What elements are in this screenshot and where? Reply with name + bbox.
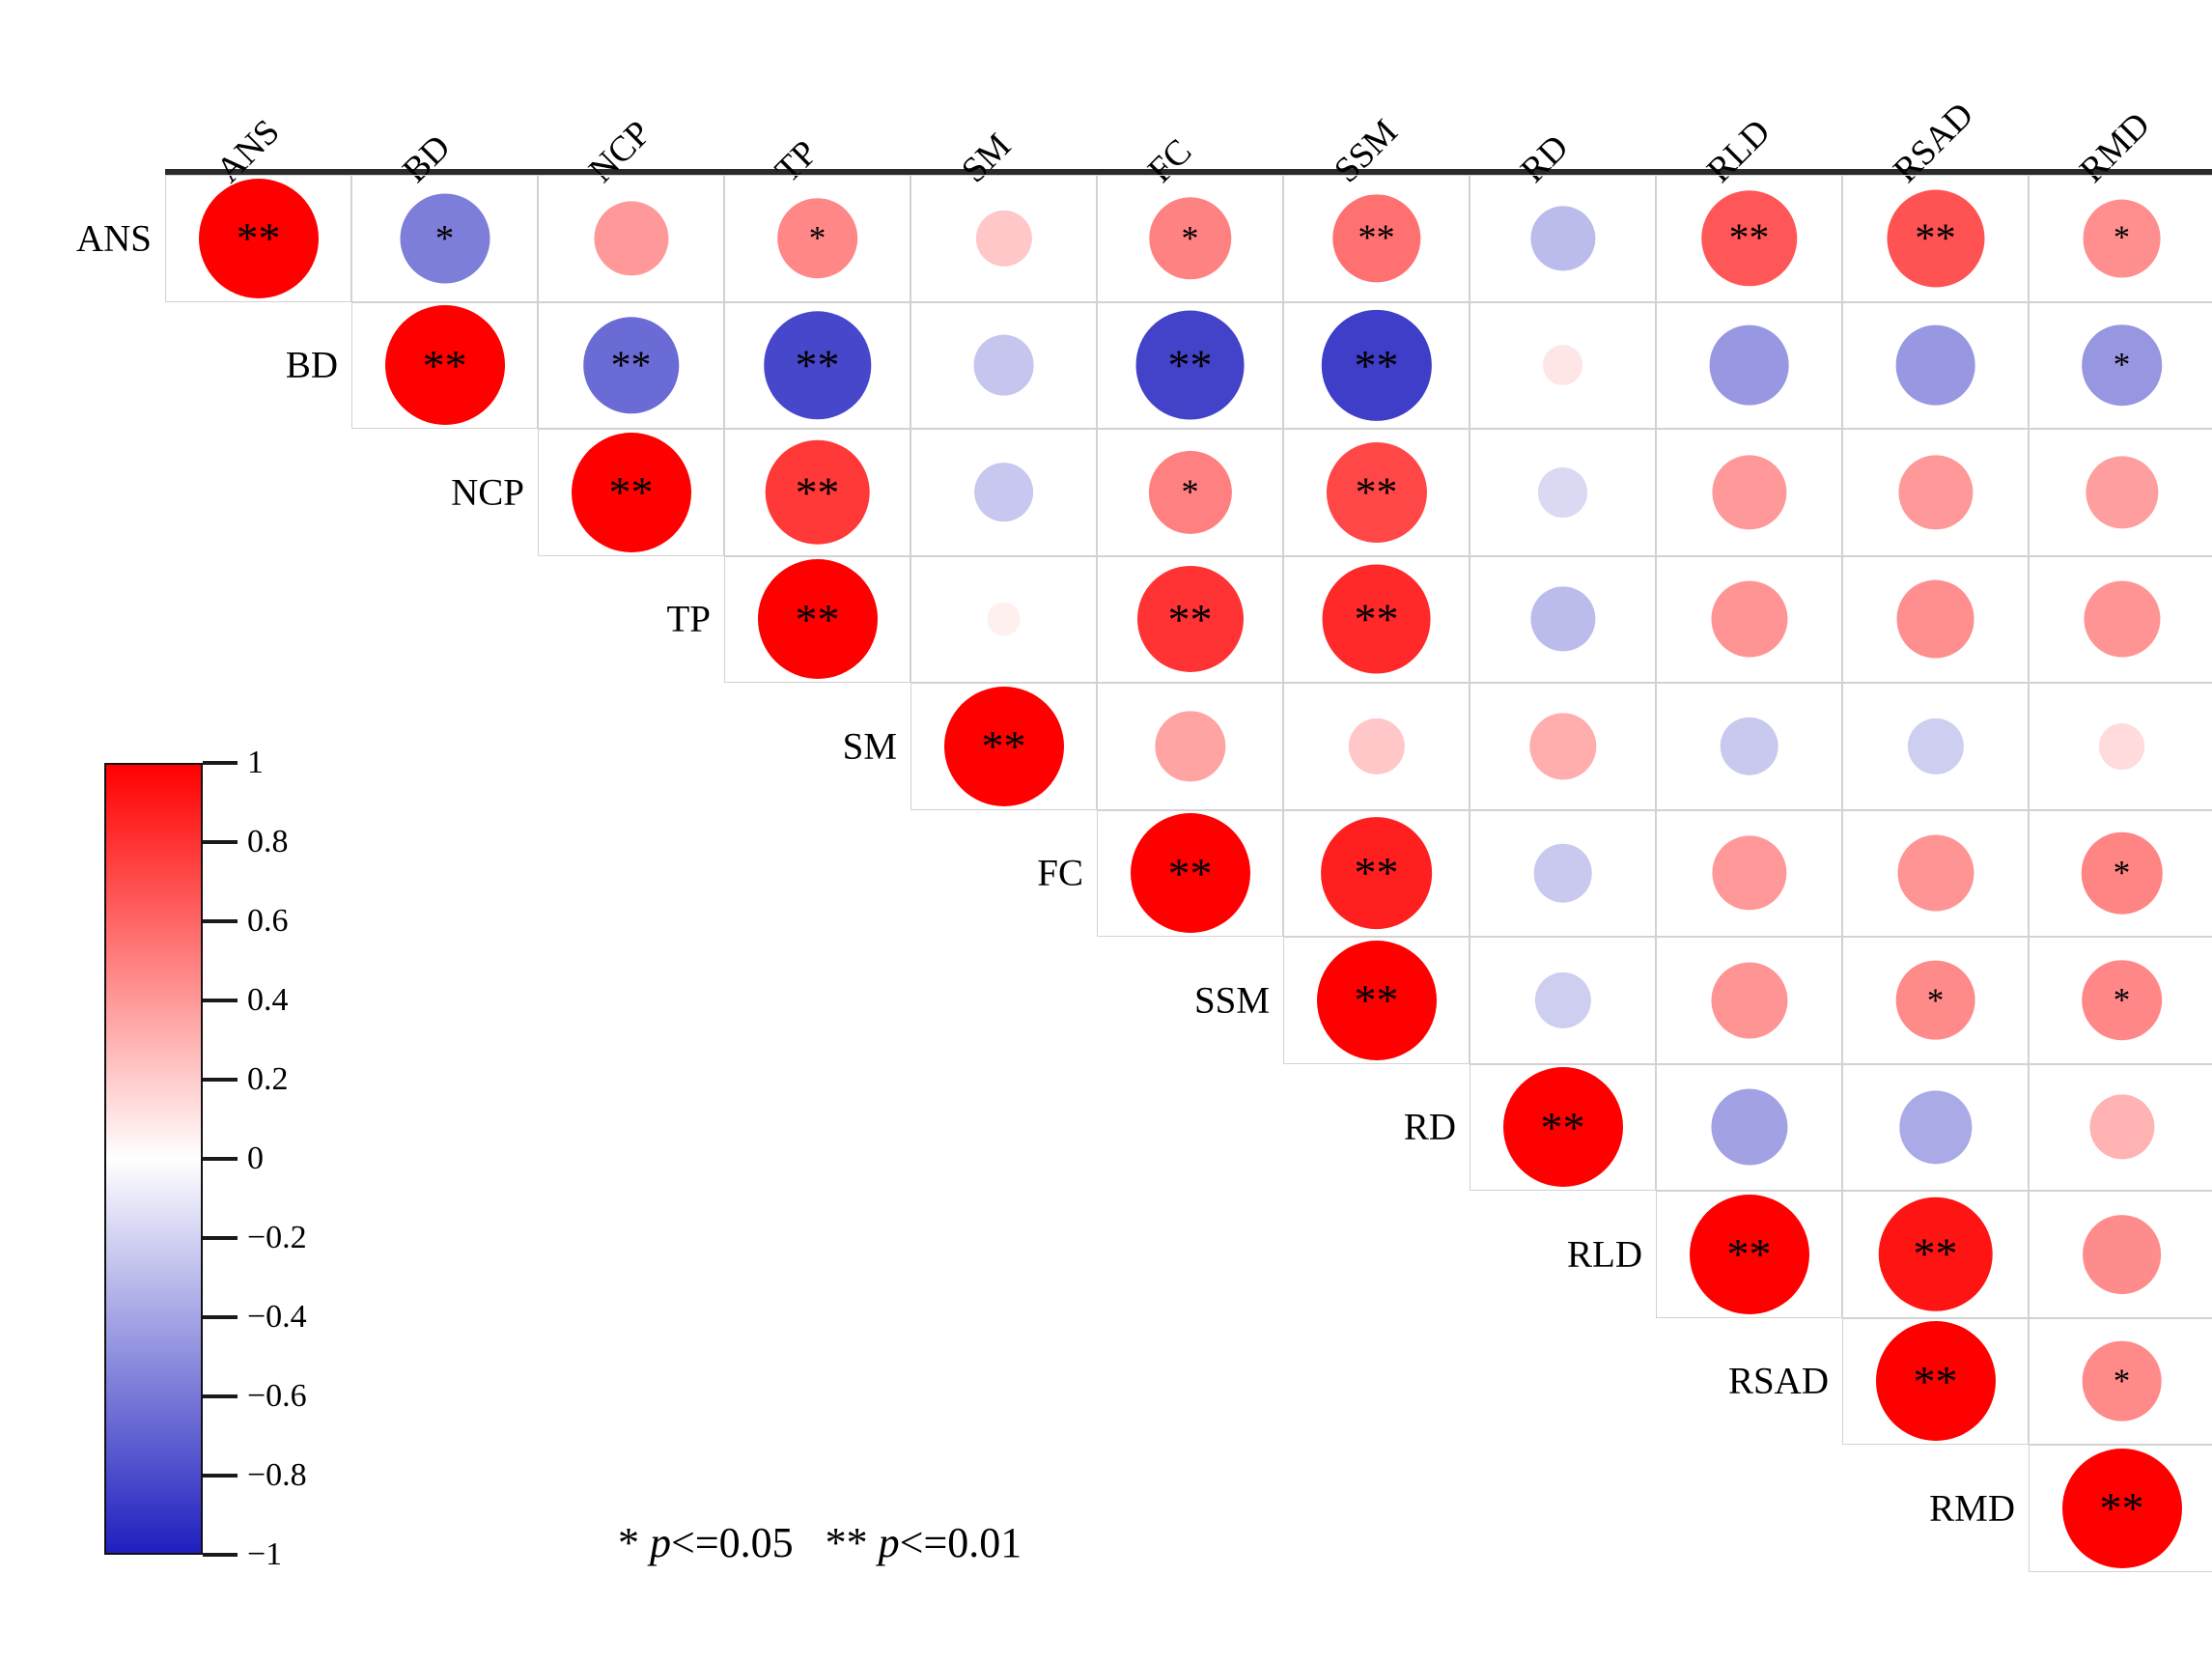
correlation-matrix-plot: ANSBDNCPTPSMFCSSMRDRLDRSADRMDANSBDNCPTPS… [0, 0, 2212, 1661]
significance-legend-star-symbol: * [618, 1519, 650, 1566]
significance-marker: ** [795, 353, 839, 378]
significance-legend-dstar: ** p<=0.01 [826, 1519, 1022, 1566]
legend-spacer [794, 1519, 826, 1566]
correlation-circle[interactable]: ** [385, 305, 505, 425]
correlation-circle[interactable]: ** [1135, 311, 1245, 420]
correlation-circle[interactable] [2086, 456, 2158, 528]
significance-marker: * [1927, 991, 1944, 1009]
correlation-circle[interactable]: ** [1321, 817, 1433, 929]
correlation-circle[interactable] [975, 211, 1031, 267]
colorbar-tick-label: −0.2 [247, 1220, 307, 1256]
significance-marker: ** [796, 480, 840, 504]
correlation-circle[interactable]: ** [1878, 1196, 1993, 1311]
significance-marker: ** [1354, 607, 1398, 632]
correlation-circle[interactable] [1897, 835, 1974, 912]
significance-marker: ** [1913, 1242, 1957, 1266]
correlation-circle[interactable] [2099, 723, 2145, 770]
correlation-circle[interactable] [1529, 713, 1596, 779]
correlation-circle[interactable]: * [2082, 1341, 2162, 1422]
correlation-circle[interactable] [2084, 581, 2160, 658]
significance-legend-dstar-p: p [879, 1519, 900, 1566]
correlation-circle[interactable] [1907, 718, 1963, 774]
correlation-circle[interactable] [1709, 325, 1789, 406]
significance-legend-dstar-threshold: <=0.01 [900, 1519, 1022, 1566]
row-label-tp: TP [521, 598, 711, 641]
significance-marker: ** [1355, 353, 1399, 378]
significance-legend-star-p: p [650, 1519, 671, 1566]
correlation-circle[interactable]: ** [1887, 189, 1984, 287]
significance-legend: * p<=0.05 ** p<=0.01 [618, 1518, 1022, 1567]
row-label-ans: ANS [0, 216, 152, 260]
colorbar-tick [203, 919, 238, 923]
colorbar-tick [203, 1394, 238, 1398]
significance-marker: * [2114, 863, 2131, 883]
correlation-circle[interactable]: * [2081, 832, 2163, 915]
correlation-circle[interactable]: ** [1131, 813, 1250, 933]
colorbar-tick-label: −0.6 [247, 1378, 307, 1415]
correlation-circle[interactable] [2089, 1095, 2154, 1160]
colorbar-tick [203, 1157, 238, 1161]
row-label-ncp: NCP [335, 470, 524, 514]
significance-marker: ** [1168, 861, 1213, 886]
colorbar-gradient [106, 765, 201, 1553]
significance-marker: ** [1541, 1115, 1585, 1140]
colorbar-tick-label: 0.6 [247, 903, 289, 940]
correlation-circle[interactable]: * [2083, 199, 2161, 277]
correlation-circle[interactable]: * [2082, 324, 2163, 406]
row-label-rsad: RSAD [1639, 1360, 1829, 1403]
correlation-circle[interactable]: * [400, 193, 490, 283]
significance-marker: ** [796, 607, 840, 632]
significance-marker: ** [1356, 481, 1398, 504]
significance-marker: ** [1914, 1369, 1958, 1394]
significance-marker: * [1181, 483, 1198, 502]
correlation-circle[interactable] [1711, 962, 1787, 1038]
colorbar-tick [203, 840, 238, 844]
correlation-circle[interactable]: ** [1322, 565, 1431, 674]
correlation-circle[interactable] [1896, 580, 1974, 659]
correlation-circle[interactable] [2083, 1215, 2162, 1294]
significance-legend-dstar-symbol: ** [826, 1519, 879, 1566]
correlation-circle[interactable] [987, 603, 1021, 636]
correlation-circle[interactable]: * [1148, 451, 1231, 534]
correlation-circle[interactable]: ** [2062, 1449, 2182, 1568]
correlation-circle[interactable] [1720, 717, 1778, 775]
correlation-circle[interactable] [1898, 455, 1973, 529]
colorbar-tick [203, 1078, 238, 1082]
correlation-circle[interactable]: ** [1876, 1321, 1996, 1441]
significance-marker: ** [1167, 353, 1212, 378]
significance-legend-star-threshold: <=0.05 [671, 1519, 794, 1566]
significance-marker: ** [423, 353, 467, 378]
correlation-circle[interactable] [1543, 345, 1583, 385]
correlation-circle[interactable] [1534, 972, 1590, 1028]
correlation-circle[interactable] [594, 201, 668, 275]
significance-marker: ** [1168, 607, 1213, 632]
colorbar-tick-label: −0.4 [247, 1299, 307, 1336]
row-label-ssm: SSM [1080, 978, 1270, 1022]
colorbar-tick-label: −1 [247, 1536, 282, 1573]
row-label-rld: RLD [1453, 1232, 1642, 1276]
correlation-circle[interactable]: ** [1321, 310, 1431, 420]
colorbar-tick [203, 761, 238, 765]
correlation-circle[interactable] [1533, 844, 1592, 903]
row-label-fc: FC [894, 852, 1083, 895]
correlation-circle[interactable]: ** [944, 687, 1064, 806]
colorbar-tick-label: 0.2 [247, 1061, 289, 1098]
correlation-circle[interactable] [1711, 1089, 1787, 1166]
correlation-circle[interactable] [974, 463, 1034, 522]
row-label-rd: RD [1267, 1106, 1456, 1149]
significance-marker: ** [1355, 988, 1399, 1012]
correlation-circle[interactable] [1895, 325, 1975, 406]
significance-marker: * [2114, 229, 2130, 247]
row-label-sm: SM [708, 724, 897, 768]
significance-marker: ** [1358, 228, 1394, 248]
colorbar-tick [203, 1474, 238, 1478]
significance-marker: * [1182, 229, 1199, 248]
correlation-circle[interactable]: ** [765, 439, 870, 545]
colorbar [104, 763, 203, 1555]
correlation-circle[interactable] [1711, 581, 1787, 658]
correlation-circle[interactable]: ** [1326, 442, 1426, 543]
significance-legend-star: * p<=0.05 [618, 1519, 794, 1566]
correlation-circle[interactable] [1899, 1091, 1972, 1164]
correlation-circle[interactable]: ** [1136, 566, 1243, 672]
correlation-circle[interactable]: ** [758, 559, 878, 679]
significance-marker: ** [609, 480, 654, 504]
significance-marker: ** [1727, 1242, 1772, 1266]
correlation-circle[interactable]: ** [1690, 1195, 1809, 1314]
colorbar-tick [203, 999, 238, 1002]
row-label-rmd: RMD [1826, 1486, 2015, 1530]
significance-marker: ** [1729, 227, 1770, 249]
colorbar-tick [203, 1553, 238, 1557]
colorbar-tick [203, 1236, 238, 1240]
correlation-circle[interactable] [973, 335, 1034, 396]
significance-marker: ** [611, 354, 652, 377]
significance-marker: * [435, 228, 455, 248]
significance-marker: ** [237, 226, 281, 250]
significance-marker: * [2114, 356, 2131, 375]
significance-marker: ** [2100, 1496, 2144, 1520]
correlation-circle[interactable]: * [2082, 960, 2163, 1041]
correlation-circle[interactable] [1712, 455, 1786, 529]
significance-marker: ** [982, 734, 1026, 758]
colorbar-tick [203, 1315, 238, 1319]
significance-marker: * [809, 229, 826, 247]
colorbar-tick-label: 0 [247, 1140, 264, 1177]
colorbar-tick-label: 0.4 [247, 982, 289, 1019]
correlation-circle[interactable]: ** [1317, 941, 1437, 1060]
significance-marker: * [2114, 1372, 2130, 1391]
colorbar-tick-label: 0.8 [247, 824, 289, 860]
significance-marker: * [2114, 991, 2131, 1009]
correlation-circle[interactable] [1530, 587, 1595, 652]
colorbar-tick-label: −0.8 [247, 1457, 307, 1494]
correlation-circle[interactable] [1712, 836, 1786, 911]
significance-marker: ** [1915, 227, 1955, 249]
significance-marker: ** [1354, 861, 1398, 886]
row-label-bd: BD [149, 344, 338, 387]
correlation-circle[interactable]: ** [1503, 1067, 1623, 1187]
colorbar-tick-label: 1 [247, 745, 264, 781]
correlation-circle[interactable]: ** [572, 433, 691, 552]
correlation-circle[interactable]: * [1895, 960, 1975, 1040]
correlation-circle[interactable]: * [777, 198, 858, 279]
correlation-circle[interactable]: ** [199, 179, 319, 298]
correlation-circle[interactable]: ** [1332, 194, 1420, 282]
correlation-circle[interactable] [1530, 206, 1595, 270]
correlation-circle[interactable] [1348, 718, 1404, 774]
correlation-circle[interactable] [1538, 467, 1588, 518]
